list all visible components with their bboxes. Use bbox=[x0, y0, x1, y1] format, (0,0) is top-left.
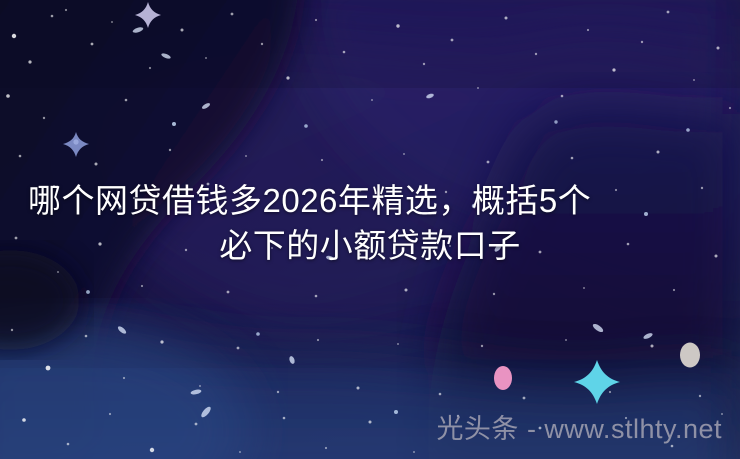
poster-title: 哪个网贷借钱多2026年精选，概括5个 必下的小额贷款口子 bbox=[0, 178, 740, 268]
cyan-star-decoration bbox=[574, 360, 620, 404]
blue-diamond-icon bbox=[63, 132, 89, 157]
title-line-1: 哪个网贷借钱多2026年精选，概括5个 bbox=[0, 178, 740, 223]
poster-canvas: 哪个网贷借钱多2026年精选，概括5个 必下的小额贷款口子 光头条 - www.… bbox=[0, 0, 740, 459]
pink-oval-decoration bbox=[494, 366, 512, 390]
lilac-diamond-icon bbox=[135, 2, 161, 28]
pale-oval-decoration bbox=[680, 343, 700, 368]
title-line-2: 必下的小额贷款口子 bbox=[0, 223, 740, 268]
site-watermark: 光头条 - www.stlhty.net bbox=[436, 413, 722, 445]
